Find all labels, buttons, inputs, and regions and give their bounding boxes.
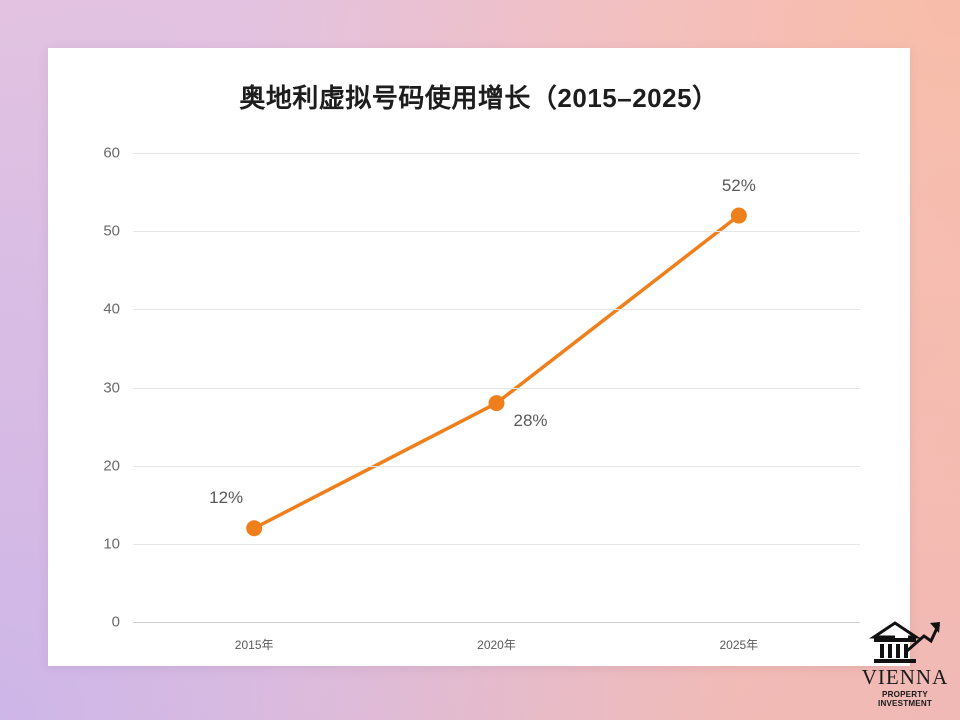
series-line xyxy=(254,216,739,529)
y-axis-tick-label: 50 xyxy=(103,223,120,240)
chart-title: 奥地利虚拟号码使用增长（2015–2025） xyxy=(48,78,910,115)
bank-building-with-growth-arrow-icon xyxy=(868,616,942,666)
gridline xyxy=(133,466,860,467)
y-axis-tick-label: 30 xyxy=(103,379,120,396)
gridline xyxy=(133,231,860,232)
slide-canvas: 奥地利虚拟号码使用增长（2015–2025） 01020304050602015… xyxy=(0,0,960,720)
x-axis-tick-label: 2015年 xyxy=(235,636,274,653)
company-logo: VIENNA PROPERTY INVESTMENT xyxy=(855,616,955,704)
logo-company-name: VIENNA xyxy=(855,667,955,688)
y-axis-tick-label: 40 xyxy=(103,301,120,318)
chart-card: 奥地利虚拟号码使用增长（2015–2025） 01020304050602015… xyxy=(48,48,910,666)
data-point-marker[interactable] xyxy=(489,395,505,411)
data-point-label: 52% xyxy=(722,176,756,196)
data-point-marker[interactable] xyxy=(731,208,747,224)
y-axis-tick-label: 60 xyxy=(103,145,120,162)
gridline xyxy=(133,544,860,545)
data-point-label: 28% xyxy=(513,411,547,431)
y-axis-tick-label: 20 xyxy=(103,457,120,474)
x-axis-tick-label: 2020年 xyxy=(477,636,516,653)
gridline xyxy=(133,153,860,154)
y-axis-tick-label: 0 xyxy=(112,614,120,631)
data-point-label: 12% xyxy=(209,488,243,508)
y-axis-tick-label: 10 xyxy=(103,535,120,552)
data-point-marker[interactable] xyxy=(246,520,262,536)
logo-tagline: PROPERTY INVESTMENT xyxy=(858,690,953,707)
x-axis-tick-label: 2025年 xyxy=(719,636,758,653)
plot-area: 01020304050602015年2020年2025年12%28%52% xyxy=(133,153,860,622)
gridline xyxy=(133,622,860,623)
gridline xyxy=(133,309,860,310)
gridline xyxy=(133,388,860,389)
